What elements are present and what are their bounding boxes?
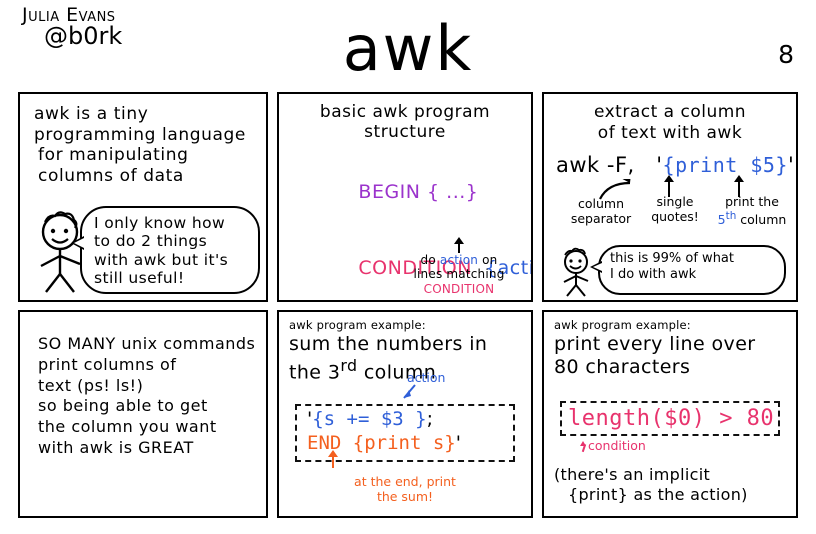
panel3-command: awk -F, '{print $5}': [552, 153, 788, 177]
footnote-line: the sum!: [287, 489, 523, 505]
panel-sum-column-example: awk program example: sum the numbers in …: [277, 310, 533, 518]
annot-line: separator: [558, 212, 644, 227]
small-arrow-icon: [580, 442, 588, 452]
panel1-line: programming language: [34, 125, 256, 146]
panel1-line: awk is a tiny: [34, 104, 256, 125]
panel3-speech-group: this is 99% of what I do with awk: [554, 245, 788, 297]
footer-line: (there's an implicit: [554, 465, 788, 485]
panel2-note: do action on lines matching CONDITION: [395, 237, 523, 296]
annot-line-ordinal: 5th column: [704, 210, 798, 228]
note-do: do: [421, 253, 440, 267]
command-close-quote: ': [788, 153, 794, 177]
panel6-heading-line1: print every line over: [554, 333, 788, 356]
panel6-condition-label: condition: [580, 438, 788, 453]
speech-tail-icon: [590, 261, 602, 273]
command-program: {print $5}: [663, 153, 788, 177]
panel2-heading: basic awk program structure: [287, 102, 523, 143]
speech-line: I do with awk: [610, 267, 778, 283]
panel-long-lines-example: awk program example: print every line ov…: [542, 310, 798, 518]
note-on: on: [478, 253, 497, 267]
panel-extract-column: extract a column of text with awk awk -F…: [542, 92, 798, 302]
note-condition: CONDITION: [395, 282, 523, 296]
panel-unix-commands: SO MANY unix commands print columns of t…: [18, 310, 268, 518]
panel6-example-label: awk program example:: [554, 318, 788, 332]
panel4-line: the column you want: [38, 417, 256, 438]
panel5-heading-line2: the 3rd column: [289, 356, 523, 384]
panel4-line: so being able to get: [38, 396, 256, 417]
action-pointer-arrow-icon: [397, 384, 419, 402]
speech-tail-icon: [71, 236, 84, 250]
panel4-line: print columns of: [38, 355, 256, 376]
panel4-line: SO MANY unix commands: [38, 334, 256, 355]
panel1-speech-group: I only know how to do 2 things with awk …: [28, 204, 260, 296]
panel2-heading-line1: basic awk program: [287, 102, 523, 122]
code-semicolon: ;: [427, 408, 433, 430]
orange-arrow-up-icon: [327, 452, 339, 468]
panel2-heading-line2: structure: [287, 122, 523, 142]
panel6-code-box: length($0) > 80: [560, 401, 780, 436]
panel3-annotations: column separator single quotes! print th…: [552, 179, 788, 233]
panel1-text: awk is a tiny programming language for m…: [28, 100, 258, 187]
panel6-heading-line2: 80 characters: [554, 356, 788, 379]
panel3-speech-bubble: this is 99% of what I do with awk: [598, 245, 786, 295]
ordinal-rest: column: [736, 212, 786, 227]
panel3-heading: extract a column of text with awk: [552, 102, 788, 143]
speech-line: to do 2 things: [94, 232, 250, 250]
close-quote: ': [456, 432, 461, 454]
annotation-column-separator: column separator: [558, 197, 644, 227]
annotation-single-quotes: single quotes!: [646, 195, 704, 225]
panel3-heading-line1: extract a column: [552, 102, 788, 123]
panel5-action-label: action: [407, 370, 445, 385]
annot-line: print the: [704, 195, 798, 210]
panel-program-structure: basic awk program structure BEGIN { ...}…: [277, 92, 533, 302]
command-prefix: awk -F,: [556, 153, 635, 177]
annot-line: column: [558, 197, 644, 212]
panel4-line: with awk is GREAT: [38, 438, 256, 459]
panel4-text: SO MANY unix commands print columns of t…: [28, 318, 258, 459]
panel5-example-label: awk program example:: [289, 318, 523, 332]
speech-line: still useful!: [94, 269, 250, 287]
annotation-print-fifth-column: print the 5th column: [704, 195, 798, 228]
note-action: action: [440, 253, 478, 267]
comic-page: Julia Evans @b0rk awk 8 awk is a tiny pr…: [0, 0, 816, 534]
ordinal-suffix: th: [726, 210, 737, 222]
code-action: {s += $3 }: [312, 408, 426, 430]
speech-line: I only know how: [94, 214, 250, 232]
annot-line: quotes!: [646, 210, 704, 225]
ordinal-number: 5: [718, 212, 726, 227]
condition-text: condition: [588, 438, 646, 453]
page-title: awk: [0, 18, 816, 80]
heading-pre: the 3: [289, 361, 340, 383]
panel3-heading-line2: of text with awk: [552, 123, 788, 144]
panel1-speech-bubble: I only know how to do 2 things with awk …: [80, 206, 260, 294]
panel4-line: text (ps! ls!): [38, 376, 256, 397]
keyword-begin: BEGIN { ...}: [358, 181, 478, 203]
panel6-footer: (there's an implicit {print} as the acti…: [554, 465, 788, 506]
footnote-line: at the end, print: [287, 474, 523, 490]
page-number: 8: [778, 40, 794, 69]
footer-line: {print} as the action): [568, 485, 788, 505]
panel5-heading: sum the numbers in the 3rd column: [289, 333, 523, 384]
panel6-code: length($0) > 80: [568, 406, 774, 431]
code-row-begin: BEGIN { ...}: [293, 155, 523, 231]
panel-awk-intro: awk is a tiny programming language for m…: [18, 92, 268, 302]
panel5-code-row1: '{s += $3 };: [307, 408, 507, 432]
arrow-up-icon: [453, 237, 465, 253]
panel6-heading: print every line over 80 characters: [554, 333, 788, 379]
panel1-line: columns of data: [38, 166, 256, 187]
speech-line: with awk but it's: [94, 251, 250, 269]
panel5-footnote: at the end, print the sum!: [287, 474, 523, 505]
note-line2: lines matching: [395, 267, 523, 281]
panel1-line: for manipulating: [38, 145, 256, 166]
heading-ordinal-suffix: rd: [340, 356, 357, 375]
panel-grid: awk is a tiny programming language for m…: [18, 92, 798, 518]
speech-line: this is 99% of what: [610, 251, 778, 267]
annot-line: single: [646, 195, 704, 210]
panel5-heading-line1: sum the numbers in: [289, 333, 523, 356]
note-line1: do action on: [395, 253, 523, 267]
